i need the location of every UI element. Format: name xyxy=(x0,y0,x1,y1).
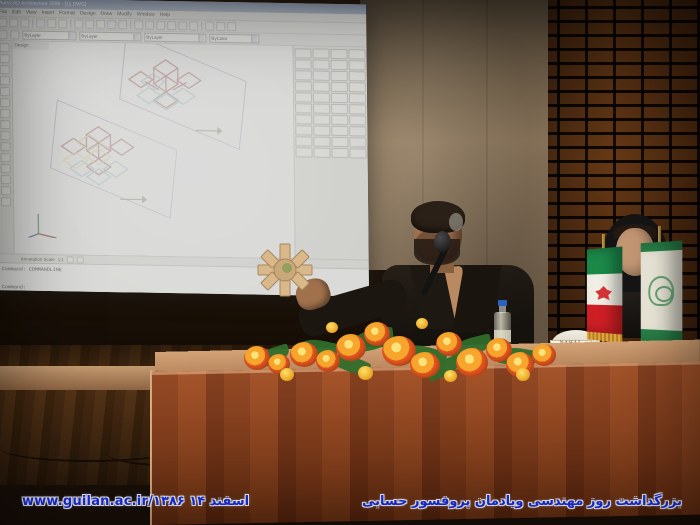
flower-bud xyxy=(516,368,530,381)
university-logo-icon xyxy=(648,276,674,307)
palette-tool-copy-icon[interactable] xyxy=(0,120,10,129)
rose xyxy=(456,348,488,377)
tool-break-icon[interactable] xyxy=(295,103,312,113)
linetype-combo-value: ByLayer xyxy=(146,35,163,40)
linetype-combo[interactable]: ByLayer xyxy=(144,33,206,43)
website-url: www.guilan.ac.ir xyxy=(22,494,148,509)
designcenter-icon[interactable] xyxy=(167,21,176,30)
tool-xref-icon[interactable] xyxy=(313,148,330,158)
open-icon[interactable] xyxy=(9,18,18,27)
tool-polygon-icon[interactable] xyxy=(349,115,366,125)
tool-stretch-icon[interactable] xyxy=(295,92,312,102)
tool-clock-icon[interactable] xyxy=(349,82,366,92)
menu-item-view[interactable]: View xyxy=(26,10,37,16)
render-icon[interactable] xyxy=(205,22,214,31)
tool-polyline-icon[interactable] xyxy=(348,49,365,59)
microphone xyxy=(434,231,451,253)
tool-trim-icon[interactable] xyxy=(313,93,330,103)
undo-icon[interactable] xyxy=(107,20,116,29)
palette-tool-slab-icon[interactable] xyxy=(0,131,10,140)
annotation-autoscale-icon[interactable] xyxy=(77,256,84,263)
ucs-axis-icon xyxy=(26,204,58,239)
rose xyxy=(410,352,440,378)
menu-item-insert[interactable]: Insert xyxy=(42,10,55,16)
tool-arc-icon[interactable] xyxy=(331,71,348,81)
tool-layer-icon[interactable] xyxy=(295,147,312,157)
tool-dim-icon[interactable] xyxy=(313,137,330,147)
layer-manager-icon[interactable] xyxy=(0,30,7,39)
tool-ray-icon[interactable] xyxy=(331,60,348,70)
photo-canvas: AutoCAD Architecture 2008 - [11.DWG] Fil… xyxy=(0,0,700,525)
menu-item-format[interactable]: Format xyxy=(59,10,75,16)
iran-emblem-icon xyxy=(595,286,612,300)
tool-fillet-icon[interactable] xyxy=(313,115,330,125)
cad-star-assembly-lower xyxy=(53,118,144,198)
lineweight-combo-value: ByColor xyxy=(211,36,227,41)
flag-cloth xyxy=(587,246,622,335)
palette-tool-rect-icon[interactable] xyxy=(0,164,10,173)
sheetset-icon[interactable] xyxy=(189,21,198,30)
new-icon[interactable] xyxy=(0,18,7,27)
palette-tool-wall-icon[interactable] xyxy=(0,43,9,52)
rose xyxy=(436,332,462,356)
wooden-star-model xyxy=(256,242,314,298)
annotation-scale-value[interactable]: 1:1 xyxy=(58,257,64,262)
tool-rotate-icon[interactable] xyxy=(295,81,312,91)
tool-table-icon[interactable] xyxy=(295,136,312,146)
flower-bud xyxy=(444,370,457,382)
flower-bud xyxy=(326,322,338,333)
right-toolbars[interactable] xyxy=(292,46,368,259)
annotation-visibility-icon[interactable] xyxy=(67,256,74,263)
tool-point-icon[interactable] xyxy=(331,126,348,136)
menu-item-modify[interactable]: Modify xyxy=(117,11,132,17)
lineweight-combo[interactable]: ByColor xyxy=(209,34,259,44)
tool-offset-icon[interactable] xyxy=(295,70,312,80)
tool-region-icon[interactable] xyxy=(349,126,366,136)
palette-tool-poly-icon[interactable] xyxy=(0,175,10,184)
palette-tool-move-icon[interactable] xyxy=(0,98,10,107)
caption-left: www.guilan.ac.ir/۱۳۸۶ ۱۴ اسفند xyxy=(22,494,249,509)
palette-tool-arc-icon[interactable] xyxy=(0,186,10,195)
chevron-down-icon[interactable] xyxy=(251,35,257,42)
palette-tab-design[interactable]: Design xyxy=(12,41,48,50)
caption-right: بزرگداشت روز مهندسی ویادمان پروفسور حساب… xyxy=(362,494,682,509)
tool-scale-icon[interactable] xyxy=(313,60,330,70)
tool-image-icon[interactable] xyxy=(331,148,348,158)
toolpalettes-icon[interactable] xyxy=(178,21,187,30)
flag-cloth xyxy=(641,241,683,344)
copy-icon[interactable] xyxy=(85,20,94,29)
menu-item-draw[interactable]: Draw xyxy=(100,11,112,17)
palette-tool-window-icon[interactable] xyxy=(0,65,9,74)
palette-tool-door-icon[interactable] xyxy=(0,54,9,63)
tool-explode-icon[interactable] xyxy=(295,125,312,135)
rose xyxy=(336,334,366,361)
menu-item-design[interactable]: Design xyxy=(80,10,96,16)
properties-icon[interactable] xyxy=(156,21,165,30)
rose xyxy=(244,346,270,370)
toolbar-separator xyxy=(130,20,131,29)
layer-combo-value: ByLayer xyxy=(24,32,41,37)
menu-item-window[interactable]: Window xyxy=(137,11,155,17)
pan-icon[interactable] xyxy=(134,20,143,29)
tool-copy-icon[interactable] xyxy=(295,59,312,69)
print-icon[interactable] xyxy=(36,19,45,28)
tool-ellipse-icon[interactable] xyxy=(331,82,348,92)
tool-extend-icon[interactable] xyxy=(313,82,330,92)
flower-bud xyxy=(358,366,373,380)
tool-hatch-icon[interactable] xyxy=(331,93,348,103)
chevron-down-icon[interactable] xyxy=(198,35,204,42)
publish-icon[interactable] xyxy=(58,19,67,28)
zoom-icon[interactable] xyxy=(145,21,154,30)
palette-tool-circle-icon[interactable] xyxy=(1,197,11,206)
tool-chamfer-icon[interactable] xyxy=(295,114,312,124)
color-combo[interactable]: ByLayer xyxy=(79,31,141,41)
tool-array-icon[interactable] xyxy=(313,71,330,81)
tool-mirror-icon[interactable] xyxy=(312,49,329,59)
menu-item-edit[interactable]: Edit xyxy=(12,9,21,15)
tool-insert-icon[interactable] xyxy=(349,148,366,158)
palette-tool-grid-icon[interactable] xyxy=(0,87,10,96)
tool-leader-icon[interactable] xyxy=(331,137,348,147)
preview-icon[interactable] xyxy=(47,19,56,28)
tool-block-icon[interactable] xyxy=(313,126,330,136)
tool-donut-icon[interactable] xyxy=(349,104,366,114)
hair xyxy=(411,201,465,233)
paste-icon[interactable] xyxy=(96,20,105,29)
redo-icon[interactable] xyxy=(118,20,127,29)
rose xyxy=(290,342,318,367)
palette-tool-line-icon[interactable] xyxy=(0,153,10,162)
flower-bud xyxy=(280,368,294,381)
save-icon[interactable] xyxy=(20,18,29,27)
color-combo-value: ByLayer xyxy=(81,33,98,38)
tool-spline-icon[interactable] xyxy=(349,71,366,81)
layer-combo[interactable]: ByLayer xyxy=(22,30,76,40)
tool-xline-icon[interactable] xyxy=(349,60,366,70)
dimension-arrow-upper xyxy=(193,122,223,139)
toolbar-separator xyxy=(201,22,202,31)
chevron-down-icon[interactable] xyxy=(133,33,139,40)
tool-line-icon[interactable] xyxy=(330,49,347,59)
tool-move-icon[interactable] xyxy=(294,48,311,58)
tool-revcloud-icon[interactable] xyxy=(331,115,348,125)
tool-text-icon[interactable] xyxy=(349,137,366,147)
tool-circle-icon[interactable] xyxy=(331,104,348,114)
palette-tool-roof-icon[interactable] xyxy=(0,142,10,151)
menu-item-help[interactable]: Help xyxy=(160,12,170,18)
help-icon[interactable] xyxy=(227,22,236,31)
orange-rose-arrangement xyxy=(240,312,570,388)
caption-date: /۱۳۸۶ ۱۴ اسفند xyxy=(148,494,249,509)
tool-gradient-icon[interactable] xyxy=(349,93,366,103)
caption-bar: www.guilan.ac.ir/۱۳۸۶ ۱۴ اسفند بزرگداشت … xyxy=(0,485,700,525)
side-counter xyxy=(0,366,160,390)
flower-bud xyxy=(416,318,428,329)
toolbar-separator xyxy=(32,19,33,28)
rose xyxy=(316,350,340,372)
cad-workspace: Design xyxy=(0,41,369,260)
drawing-canvas[interactable]: Design xyxy=(12,41,294,258)
palette-tool-stair-icon[interactable] xyxy=(0,76,9,85)
rose xyxy=(532,344,556,366)
layer-state-icon[interactable] xyxy=(10,30,19,39)
toolbar-separator xyxy=(70,19,71,28)
menu-item-file[interactable]: File xyxy=(0,9,7,15)
palette-tool-rotate-icon[interactable] xyxy=(0,109,10,118)
dimension-arrow-lower xyxy=(118,191,148,208)
measure-icon[interactable] xyxy=(216,22,225,31)
tool-join-icon[interactable] xyxy=(313,104,330,114)
cad-star-assembly-upper xyxy=(123,51,210,125)
annotation-scale-label: Annotation Scale xyxy=(21,256,55,262)
chevron-down-icon[interactable] xyxy=(68,32,74,39)
cut-icon[interactable] xyxy=(74,19,83,28)
